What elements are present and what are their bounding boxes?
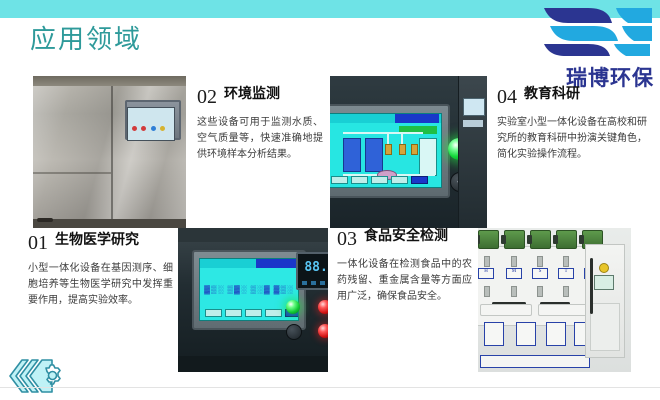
brand-logo: 瑞博环保 — [522, 6, 654, 88]
slide-root: 瑞博环保 应用领域 — [0, 0, 660, 400]
meter-reading: 88.T — [298, 260, 328, 275]
section-title: 生物医学研究 — [55, 232, 139, 249]
section-number: 02 — [197, 86, 217, 108]
section-title: 教育科研 — [524, 86, 580, 103]
section-block-03: 03 食品安全检测 一体化设备在检测食品中的农药残留、重金属含量等方面应用广泛，… — [337, 228, 472, 305]
section-body: 这些设备可用于监测水质、空气质量等，快速准确地提供环境样本分析结果。 — [197, 115, 323, 163]
section-heading: 04 教育科研 — [497, 86, 647, 108]
photo-stainless-equipment — [33, 76, 186, 228]
section-number: 01 — [28, 232, 48, 254]
section-number: 03 — [337, 228, 357, 250]
section-body: 实验室小型一体化设备在高校和研究所的教育科研中扮演关键角色，简化实验操作流程。 — [497, 115, 647, 163]
photo-control-panel-meter: ▓▒░ ▒▓░ ▒░▓ ▓▒░ 88.T — [178, 228, 328, 372]
section-heading: 01 生物医学研究 — [28, 232, 173, 254]
section-body: 小型一体化设备在基因测序、细胞培养等生物医学研究中发挥重要作用，提高实验效率。 — [28, 261, 173, 309]
digital-meter: 88.T — [296, 252, 328, 290]
section-block-02: 02 环境监测 这些设备可用于监测水质、空气质量等，快速准确地提供环境样本分析结… — [197, 86, 323, 163]
gear-icon — [6, 356, 62, 396]
section-block-04: 04 教育科研 实验室小型一体化设备在高校和研究所的教育科研中扮演关键角色，简化… — [497, 86, 647, 163]
section-heading: 03 食品安全检测 — [337, 228, 472, 250]
logo-mark-icon — [544, 6, 652, 58]
photo-hmi-control-screen — [330, 76, 487, 228]
bottom-divider — [0, 387, 660, 388]
photo-lab-water-rig: H M S T N — [478, 228, 631, 372]
page-title: 应用领域 — [30, 24, 142, 56]
section-body: 一体化设备在检测食品中的农药残留、重金属含量等方面应用广泛，确保食品安全。 — [337, 257, 472, 305]
section-number: 04 — [497, 86, 517, 108]
section-heading: 02 环境监测 — [197, 86, 323, 108]
section-title: 环境监测 — [224, 86, 280, 103]
gear-chevrons-decor — [6, 356, 62, 396]
section-title: 食品安全检测 — [364, 228, 448, 245]
section-block-01: 01 生物医学研究 小型一体化设备在基因测序、细胞培养等生物医学研究中发挥重要作… — [28, 232, 173, 309]
